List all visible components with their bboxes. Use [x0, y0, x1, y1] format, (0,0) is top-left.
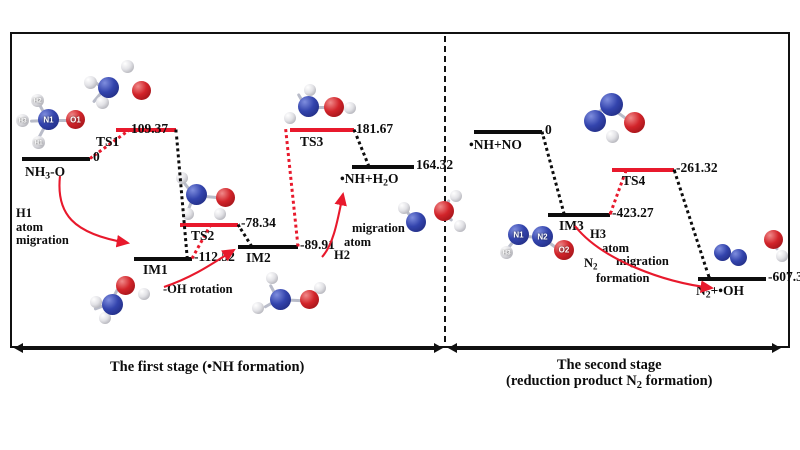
- stage2-scale-arrow-right: [772, 343, 781, 353]
- stage1-scale-arrow-right: [434, 343, 443, 353]
- stage2-scale-arrow-left: [448, 343, 457, 353]
- stage2-caption: The second stage (reduction product N2 f…: [506, 358, 712, 391]
- stage1-scale-arrow-left: [14, 343, 23, 353]
- stage1-scale-bar: [22, 348, 436, 350]
- stage2-scale-bar: [456, 348, 774, 350]
- figure-canvas: H2 H3 H1 N1 O1: [0, 0, 800, 450]
- stage1-caption: The first stage (•NH formation): [110, 360, 304, 376]
